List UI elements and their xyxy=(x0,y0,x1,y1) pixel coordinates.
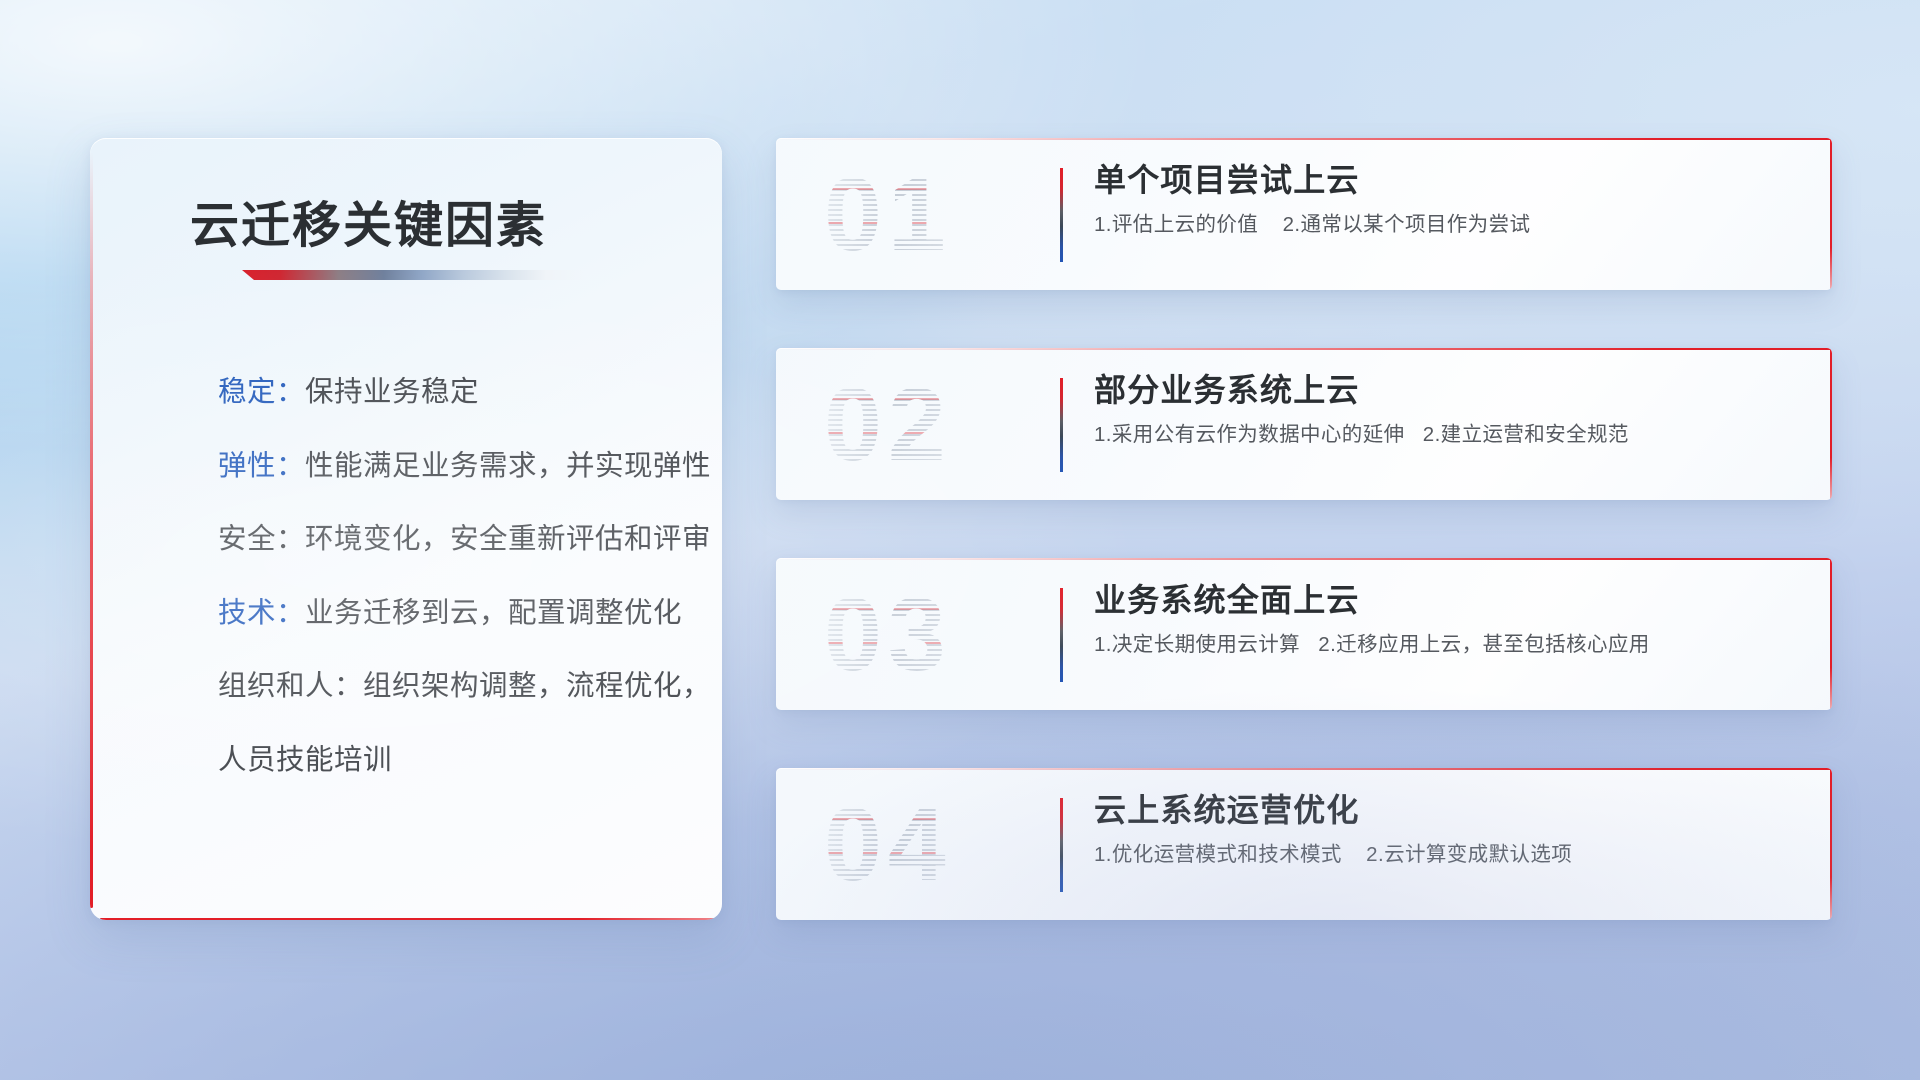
factor-key: 技术： xyxy=(218,597,305,629)
factor-list: 稳定：保持业务稳定 弹性：性能满足业务需求，并实现弹性 安全：环境变化，安全重新… xyxy=(218,378,682,774)
stage-description: 1.决定长期使用云计算 2.迁移应用上云，甚至包括核心应用 xyxy=(1094,633,1792,658)
stage-number: 01 xyxy=(824,154,1034,276)
stage-body: 单个项目尝试上云 1.评估上云的价值 2.通常以某个项目作为尝试 xyxy=(1094,162,1792,237)
stage-divider-bar xyxy=(1060,168,1063,262)
card-right-accent-line xyxy=(1830,348,1832,500)
stage-number: 03 xyxy=(824,574,1034,696)
panel-bottom-accent-bar xyxy=(100,918,716,921)
stage-divider-bar xyxy=(1060,378,1063,472)
factor-row: 稳定：保持业务稳定 xyxy=(218,378,682,407)
stage-description: 1.优化运营模式和技术模式 2.云计算变成默认选项 xyxy=(1094,843,1792,868)
card-right-accent-line xyxy=(1830,768,1832,920)
factor-key: 稳定： xyxy=(218,376,305,408)
card-top-accent-line xyxy=(776,768,1832,770)
stage-divider-bar xyxy=(1060,798,1063,892)
stage-title: 业务系统全面上云 xyxy=(1094,582,1792,620)
stage-card-02[interactable]: 02 02 部分业务系统上云 1.采用公有云作为数据中心的延伸 2.建立运营和安… xyxy=(776,348,1832,500)
factor-value: 环境变化，安全重新评估和评审 xyxy=(305,523,711,555)
stage-divider-bar xyxy=(1060,588,1063,682)
card-right-accent-line xyxy=(1830,558,1832,710)
factor-value: 人员技能培训 xyxy=(218,744,392,776)
card-right-accent-line xyxy=(1830,138,1832,290)
title-underline-rule xyxy=(242,270,588,280)
factor-row: 技术：业务迁移到云，配置调整优化 xyxy=(218,599,682,628)
panel-left-accent-bar xyxy=(90,152,93,908)
factor-key: 安全： xyxy=(218,523,305,555)
factor-key: 弹性： xyxy=(218,450,305,482)
stage-card-03[interactable]: 03 03 业务系统全面上云 1.决定长期使用云计算 2.迁移应用上云，甚至包括… xyxy=(776,558,1832,710)
stage-title: 云上系统运营优化 xyxy=(1094,792,1792,830)
card-top-accent-line xyxy=(776,558,1832,560)
factor-value: 性能满足业务需求，并实现弹性 xyxy=(305,450,711,482)
stage-body: 云上系统运营优化 1.优化运营模式和技术模式 2.云计算变成默认选项 xyxy=(1094,792,1792,867)
migration-stage-list: 01 01 单个项目尝试上云 1.评估上云的价值 2.通常以某个项目作为尝试 0… xyxy=(776,138,1832,920)
stage-title: 部分业务系统上云 xyxy=(1094,372,1792,410)
factor-value: 组织架构调整，流程优化， xyxy=(363,670,711,702)
factor-row: 安全：环境变化，安全重新评估和评审 xyxy=(218,525,682,554)
stage-body: 业务系统全面上云 1.决定长期使用云计算 2.迁移应用上云，甚至包括核心应用 xyxy=(1094,582,1792,657)
stage-description: 1.评估上云的价值 2.通常以某个项目作为尝试 xyxy=(1094,213,1792,238)
stage-number: 02 xyxy=(824,364,1034,486)
stage-card-01[interactable]: 01 01 单个项目尝试上云 1.评估上云的价值 2.通常以某个项目作为尝试 xyxy=(776,138,1832,290)
factor-row: 弹性：性能满足业务需求，并实现弹性 xyxy=(218,452,682,481)
key-factors-panel: 云迁移关键因素 稳定：保持业务稳定 弹性：性能满足业务需求，并实现弹性 安全：环… xyxy=(90,138,722,920)
stage-title: 单个项目尝试上云 xyxy=(1094,162,1792,200)
factor-row-continuation: 人员技能培训 xyxy=(218,746,682,775)
factor-key: 组织和人： xyxy=(218,670,363,702)
page-title: 云迁移关键因素 xyxy=(190,186,547,257)
stage-body: 部分业务系统上云 1.采用公有云作为数据中心的延伸 2.建立运营和安全规范 xyxy=(1094,372,1792,447)
factor-value: 业务迁移到云，配置调整优化 xyxy=(305,597,682,629)
stage-description: 1.采用公有云作为数据中心的延伸 2.建立运营和安全规范 xyxy=(1094,423,1792,448)
slide-canvas: 云迁移关键因素 稳定：保持业务稳定 弹性：性能满足业务需求，并实现弹性 安全：环… xyxy=(0,0,1920,1080)
stage-number: 04 xyxy=(824,784,1034,906)
factor-row: 组织和人：组织架构调整，流程优化， xyxy=(218,672,682,701)
factor-value: 保持业务稳定 xyxy=(305,376,479,408)
card-top-accent-line xyxy=(776,138,1832,140)
stage-card-04[interactable]: 04 04 云上系统运营优化 1.优化运营模式和技术模式 2.云计算变成默认选项 xyxy=(776,768,1832,920)
card-top-accent-line xyxy=(776,348,1832,350)
